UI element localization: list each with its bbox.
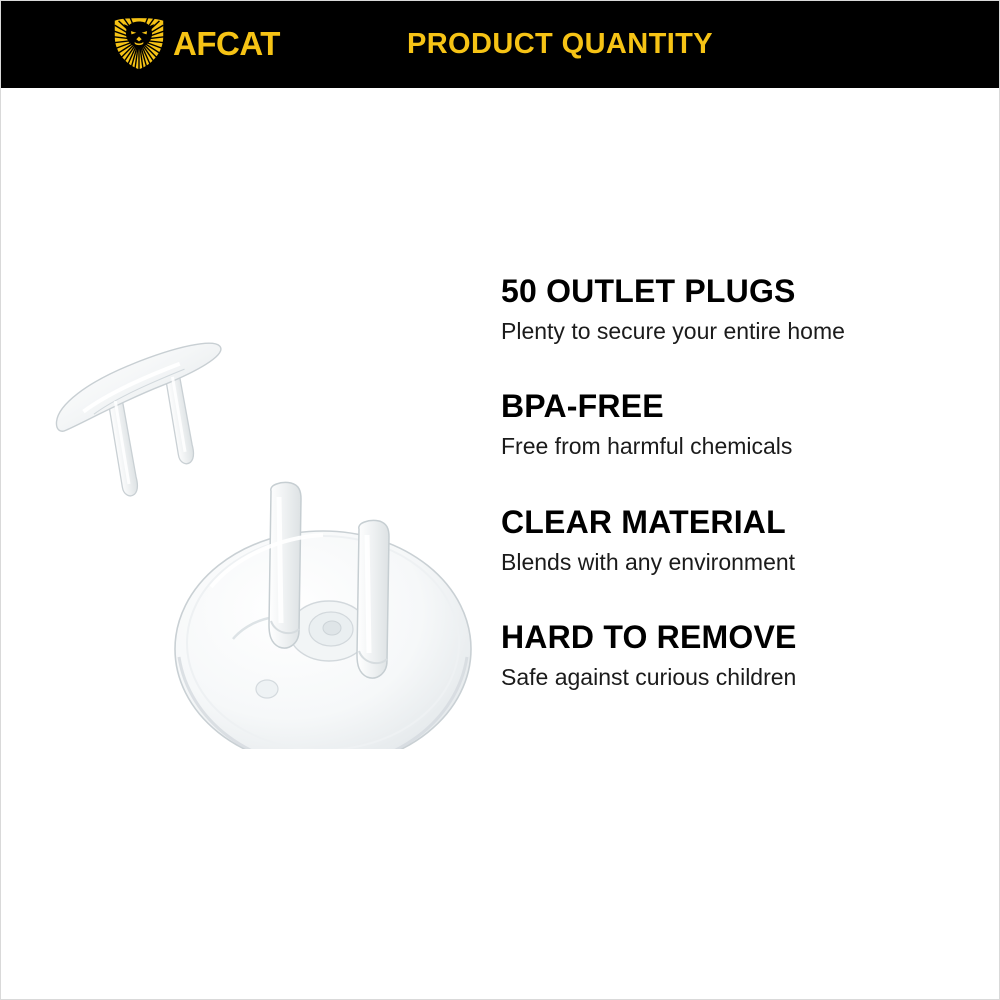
feature-item: CLEAR MATERIAL Blends with any environme… — [501, 506, 971, 575]
feature-item: HARD TO REMOVE Safe against curious chil… — [501, 621, 971, 690]
page-title: PRODUCT QUANTITY — [0, 0, 1000, 88]
feature-title: BPA-FREE — [501, 390, 971, 424]
feature-subtitle: Plenty to secure your entire home — [501, 318, 971, 344]
feature-item: 50 OUTLET PLUGS Plenty to secure your en… — [501, 275, 971, 344]
header-bar: AFCAT PRODUCT QUANTITY — [0, 0, 1000, 88]
feature-item: BPA-FREE Free from harmful chemicals — [501, 390, 971, 459]
feature-subtitle: Blends with any environment — [501, 549, 971, 575]
feature-title: HARD TO REMOVE — [501, 621, 971, 655]
content-area: 50 OUTLET PLUGS Plenty to secure your en… — [1, 89, 999, 999]
feature-subtitle: Free from harmful chemicals — [501, 433, 971, 459]
feature-title: 50 OUTLET PLUGS — [501, 275, 971, 309]
product-infographic: AFCAT PRODUCT QUANTITY — [0, 0, 1000, 1000]
feature-title: CLEAR MATERIAL — [501, 506, 971, 540]
feature-list: 50 OUTLET PLUGS Plenty to secure your en… — [501, 275, 971, 690]
clear-outlet-plug-pair-photo — [31, 319, 481, 749]
feature-subtitle: Safe against curious children — [501, 664, 971, 690]
product-image-pane — [1, 89, 481, 999]
